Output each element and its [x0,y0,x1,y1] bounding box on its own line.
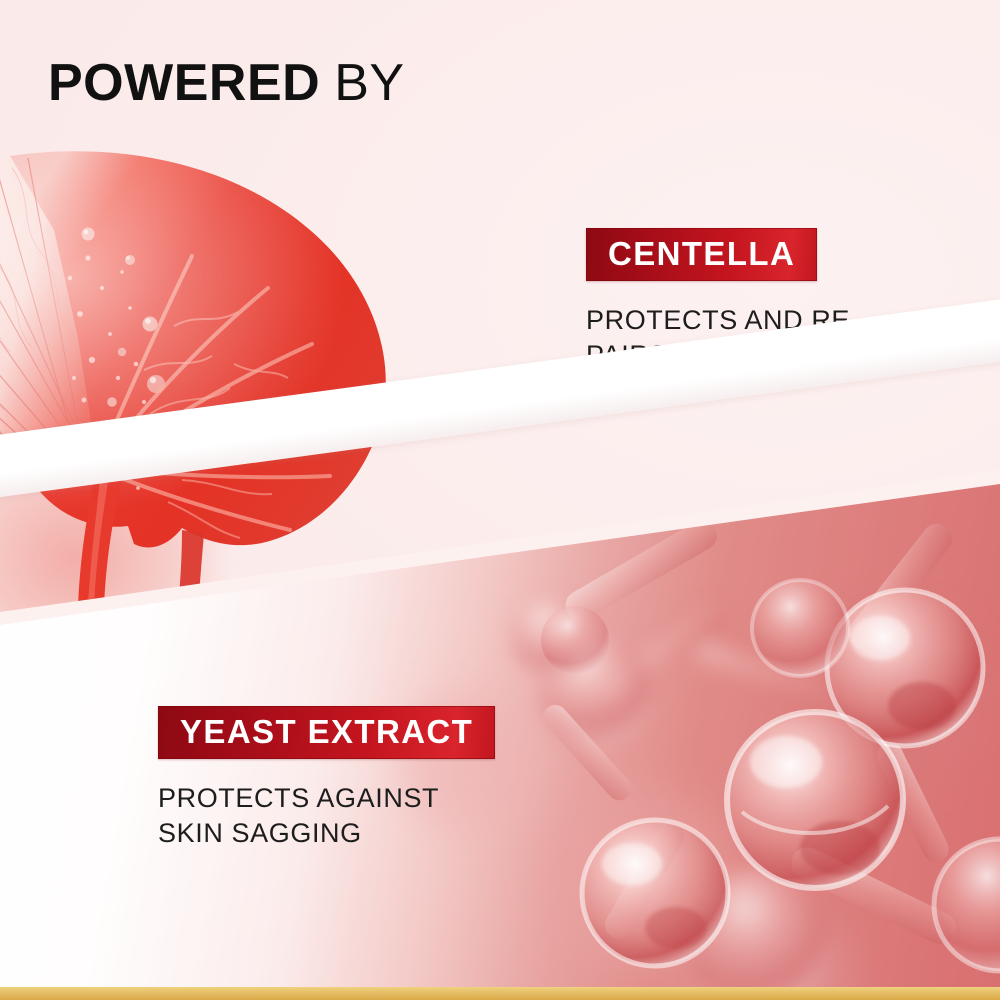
page-title: POWEREDBY [48,56,405,111]
page-title-strong: POWERED [48,54,320,112]
gold-accent-bar [0,987,1000,1000]
ingredient-description: PROTECTS AGAINST SKIN SAGGING [158,781,495,850]
promo-banner: CENTELLA PROTECTS AND RE- PAIRS SKIN BAR… [0,0,1000,1000]
ingredient-name-badge: CENTELLA [586,228,817,281]
ingredient-name-badge: YEAST EXTRACT [158,706,495,759]
page-title-light: BY [334,54,404,112]
ingredient-yeast-extract: YEAST EXTRACT PROTECTS AGAINST SKIN SAGG… [158,706,495,850]
red-begonia-leaf-image [0,138,442,608]
